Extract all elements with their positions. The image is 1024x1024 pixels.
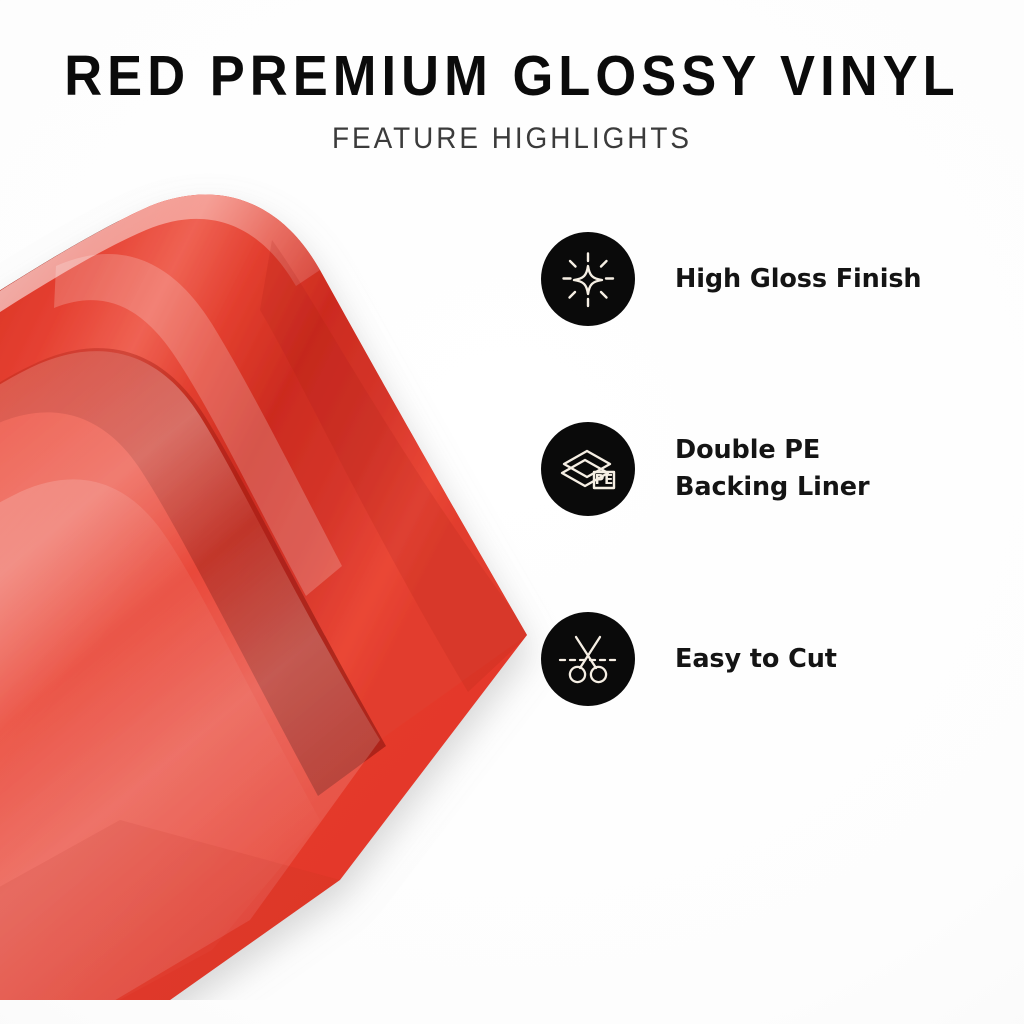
feature-item-easy-to-cut[interactable]: Easy to Cut xyxy=(541,612,971,706)
feature-item-high-gloss-finish[interactable]: High Gloss Finish xyxy=(541,232,971,326)
page-title: RED PREMIUM GLOSSY VINYL xyxy=(41,48,983,105)
infographic-canvas: RED PREMIUM GLOSSY VINYL FEATURE HIGHLIG… xyxy=(0,0,1024,1024)
scissors-cut-line-icon xyxy=(541,612,635,706)
feature-label: Double PE Backing Liner xyxy=(675,432,869,506)
red-vinyl-sheet-illustration xyxy=(0,120,580,1000)
feature-item-double-pe-backing-liner[interactable]: PE Double PE Backing Liner xyxy=(541,422,971,516)
pe-tag-text: PE xyxy=(595,473,613,488)
page-subtitle: FEATURE HIGHLIGHTS xyxy=(36,122,988,156)
feature-label: Easy to Cut xyxy=(675,641,837,678)
feature-highlights-list: High Gloss Finish PE Double PE Backing L… xyxy=(541,232,971,706)
sparkle-shine-icon xyxy=(541,232,635,326)
stacked-layers-pe-icon: PE xyxy=(541,422,635,516)
feature-label: High Gloss Finish xyxy=(675,261,921,298)
